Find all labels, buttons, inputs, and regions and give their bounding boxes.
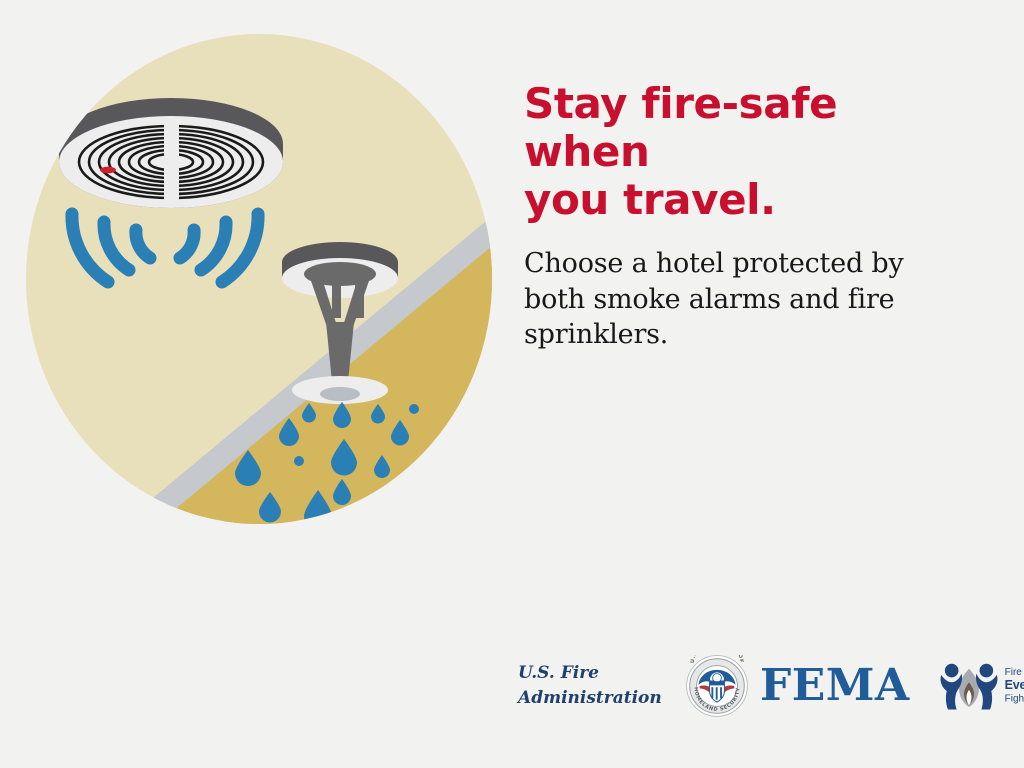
fief-line-2: Everyone's <box>1005 678 1024 693</box>
poster-canvas: Stay fire-safe when you travel. Choose a… <box>0 0 1024 768</box>
smoke-alarm-led-icon <box>100 167 116 174</box>
smoke-alarm-split-bar <box>164 122 179 202</box>
usfa-line-2: Administration <box>518 686 638 712</box>
subhead-text: Choose a hotel protected by both smoke a… <box>524 246 976 354</box>
dhs-seal-icon: U.S. DEPARTMENT OF HOMELAND SECURITY <box>686 655 748 717</box>
fief-line-3: Fight <box>1005 694 1024 705</box>
copy-block: Stay fire-safe when you travel. Choose a… <box>524 80 976 353</box>
illustration-smoke-alarm-and-sprinkler <box>26 34 492 524</box>
fief-tagline: Fire is Everyone's Fight™ <box>1005 667 1024 706</box>
subhead-line-1: Choose a hotel protected by <box>524 248 904 279</box>
usfa-line-1: U.S. Fire <box>518 661 638 687</box>
subhead-line-3: sprinklers. <box>524 319 668 350</box>
footer-logo-bar: U.S. Fire Administration <box>518 648 1010 724</box>
page-title: Stay fire-safe when you travel. <box>524 80 976 224</box>
fema-wordmark: FEMA <box>760 664 910 708</box>
usfa-wordmark: U.S. Fire Administration <box>518 661 638 712</box>
subhead-line-2: both smoke alarms and fire <box>524 284 894 315</box>
sprinkler-nozzle <box>320 387 360 401</box>
fire-is-everyones-fight-logo: Fire is Everyone's Fight™ <box>938 660 1024 712</box>
headline-line-2: you travel. <box>524 175 776 224</box>
smoke-alarm <box>59 98 283 208</box>
illustration-svg <box>26 34 492 524</box>
headline-line-1: Stay fire-safe when <box>524 79 837 176</box>
fief-line-1: Fire is <box>1005 667 1024 679</box>
fief-figures-icon <box>938 660 1000 712</box>
